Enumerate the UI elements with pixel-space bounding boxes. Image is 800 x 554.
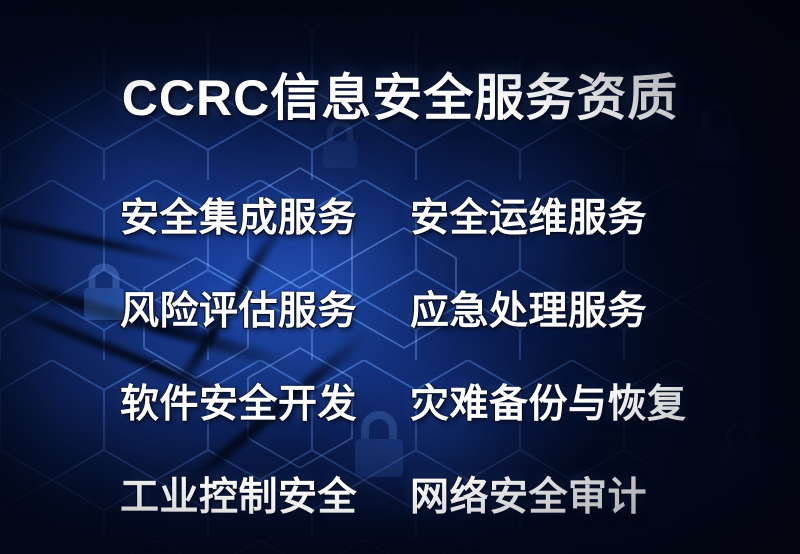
service-item-security-operations: 安全运维服务 — [410, 187, 690, 243]
service-item-disaster-backup-recovery: 灾难备份与恢复 — [410, 373, 690, 429]
service-item-industrial-control-security: 工业控制安全 — [120, 466, 410, 522]
service-item-network-security-audit: 网络安全审计 — [410, 466, 690, 522]
service-item-emergency-response: 应急处理服务 — [410, 280, 690, 336]
page-title: CCRC信息安全服务资质 — [0, 58, 800, 130]
service-item-software-security-development: 软件安全开发 — [120, 373, 410, 429]
poster-content: CCRC信息安全服务资质 安全集成服务 安全运维服务 风险评估服务 应急处理服务… — [0, 0, 800, 554]
service-item-risk-assessment: 风险评估服务 — [120, 280, 410, 336]
service-row: 安全集成服务 安全运维服务 — [120, 168, 690, 261]
service-row: 工业控制安全 网络安全审计 — [120, 447, 690, 540]
service-item-security-integration: 安全集成服务 — [120, 187, 410, 243]
service-row: 软件安全开发 灾难备份与恢复 — [120, 354, 690, 447]
service-list: 安全集成服务 安全运维服务 风险评估服务 应急处理服务 软件安全开发 灾难备份与… — [120, 168, 690, 540]
service-row: 风险评估服务 应急处理服务 — [120, 261, 690, 354]
ccrc-certification-poster: CCRC信息安全服务资质 安全集成服务 安全运维服务 风险评估服务 应急处理服务… — [0, 0, 800, 554]
